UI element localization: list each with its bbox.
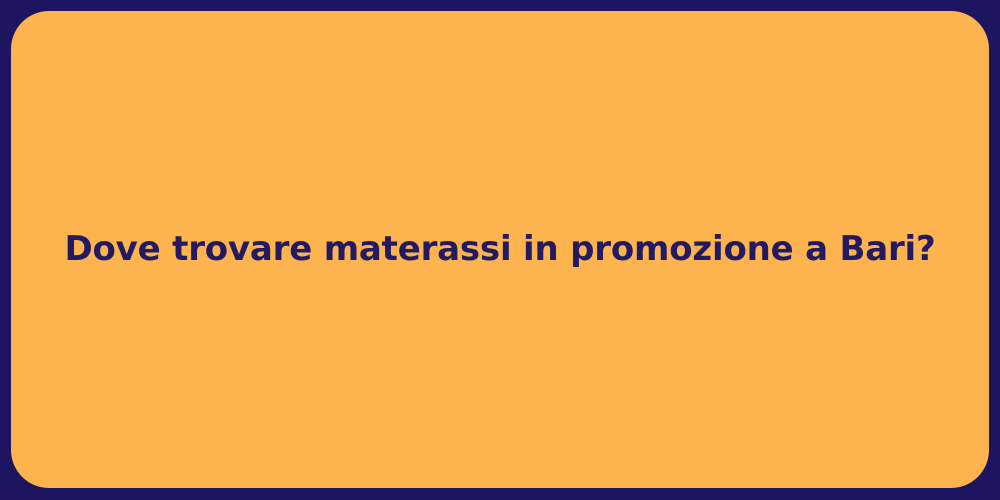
content-card: Dove trovare materassi in promozione a B…	[11, 11, 989, 488]
screenshot-canvas: Dove trovare materassi in promozione a B…	[0, 0, 1000, 500]
page-title: Dove trovare materassi in promozione a B…	[11, 230, 989, 269]
